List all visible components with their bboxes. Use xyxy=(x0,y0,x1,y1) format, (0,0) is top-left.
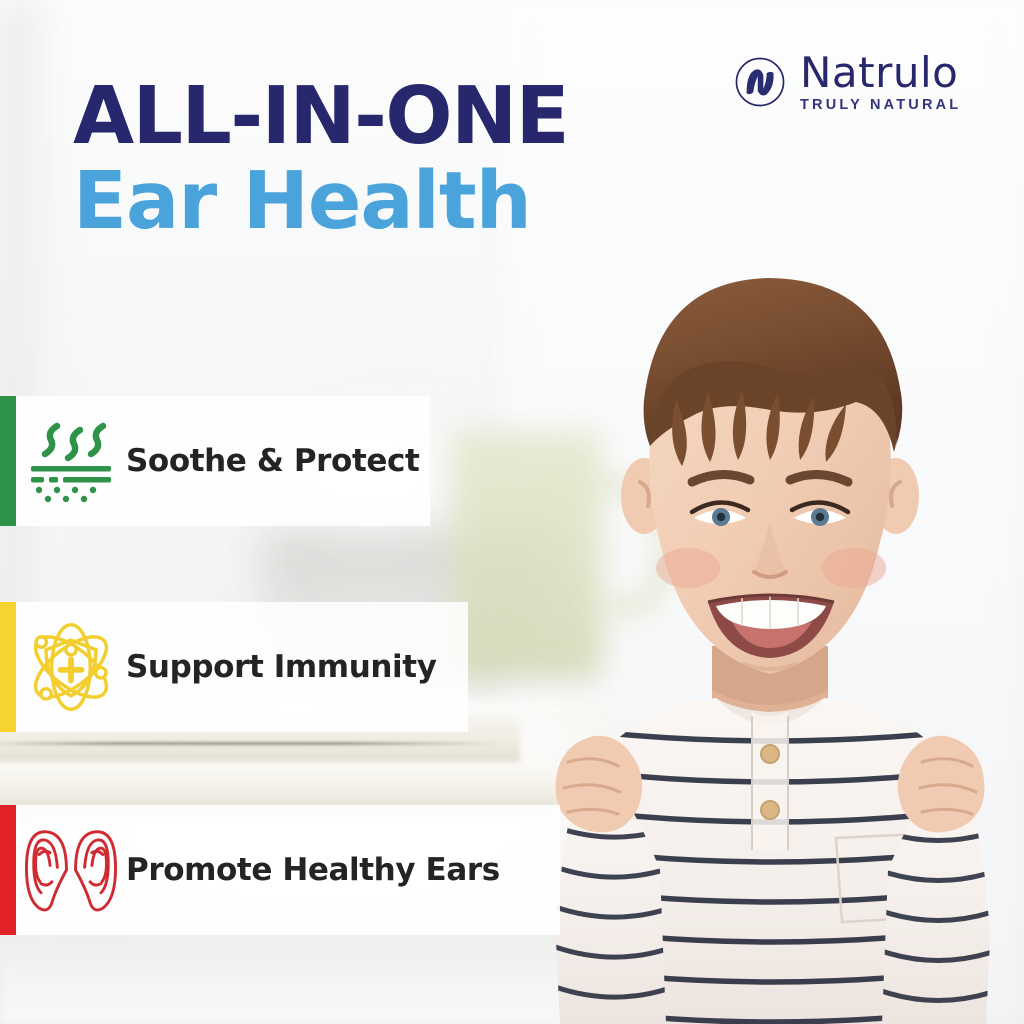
benefit-label: Promote Healthy Ears xyxy=(126,852,500,888)
accent-bar-red xyxy=(0,805,16,935)
benefit-label: Support Immunity xyxy=(126,649,437,685)
atom-shield-plus-icon xyxy=(16,619,126,715)
benefit-row-soothe-protect: Soothe & Protect xyxy=(0,396,430,526)
two-ears-icon xyxy=(16,827,126,913)
brand-tagline: TRULY NATURAL xyxy=(800,98,963,113)
product-marketing-banner: Natrulo TRULY NATURAL ALL-IN-ONE Ear Hea… xyxy=(0,0,1024,1024)
benefit-row-support-immunity: Support Immunity xyxy=(0,602,468,732)
headline-line-1: ALL-IN-ONE xyxy=(73,78,568,155)
accent-bar-green xyxy=(0,396,16,526)
benefit-label: Soothe & Protect xyxy=(126,443,419,479)
accent-bar-yellow xyxy=(0,602,16,732)
brand-name: Natrulo xyxy=(800,52,963,94)
page-title: ALL-IN-ONE Ear Health xyxy=(73,78,568,241)
headline-line-2: Ear Health xyxy=(73,163,568,240)
brand-logo: Natrulo TRULY NATURAL xyxy=(732,52,963,113)
benefit-row-promote-healthy-ears: Promote Healthy Ears xyxy=(0,805,560,935)
brand-wordmark: Natrulo TRULY NATURAL xyxy=(800,52,963,113)
boy-photo xyxy=(516,250,1024,1024)
steam-vapor-icon xyxy=(16,418,126,504)
background-towel-seam xyxy=(0,742,500,745)
natrulo-n-monogram-icon xyxy=(732,54,788,110)
